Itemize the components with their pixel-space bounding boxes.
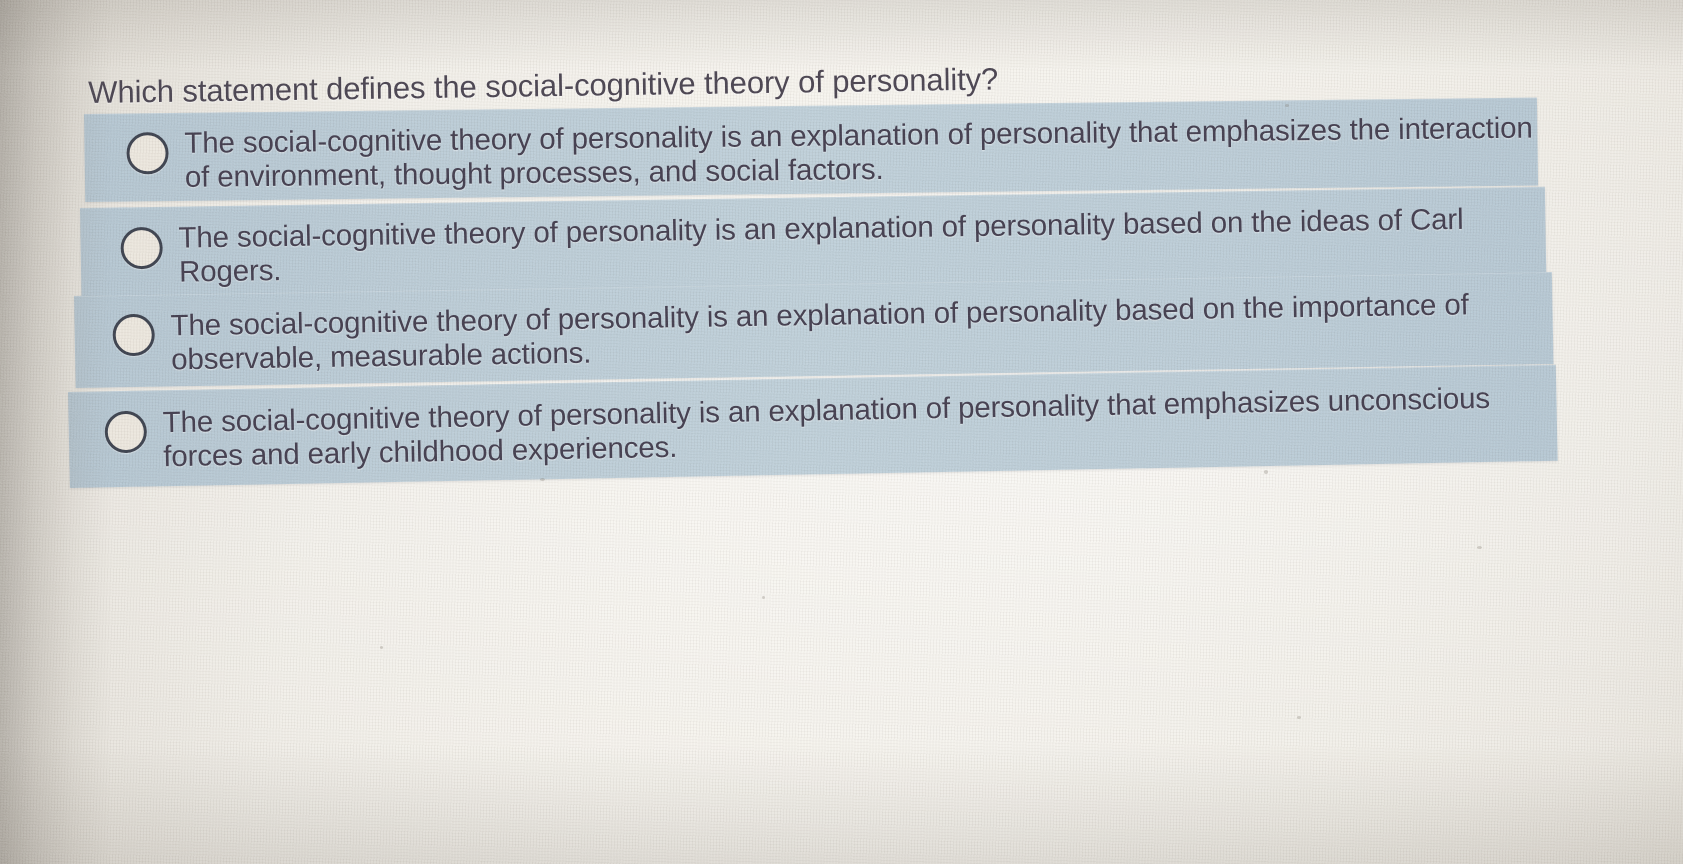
- photographed-screen: Which statement defines the social-cogni…: [0, 0, 1683, 864]
- radio-unselected-icon[interactable]: [96, 309, 171, 356]
- question-text: Which statement defines the social-cogni…: [88, 60, 1088, 110]
- answer-option-d-label: The social-cognitive theory of personali…: [162, 381, 1557, 475]
- quiz-content: Which statement defines the social-cogni…: [0, 0, 1683, 864]
- radio-unselected-icon[interactable]: [88, 406, 163, 453]
- answer-option-c-label: The social-cognitive theory of personali…: [170, 287, 1553, 378]
- radio-unselected-icon[interactable]: [110, 127, 185, 175]
- radio-unselected-icon[interactable]: [104, 222, 179, 270]
- answer-option-a-label: The social-cognitive theory of personali…: [184, 112, 1538, 196]
- answer-option-a[interactable]: The social-cognitive theory of personali…: [84, 98, 1538, 202]
